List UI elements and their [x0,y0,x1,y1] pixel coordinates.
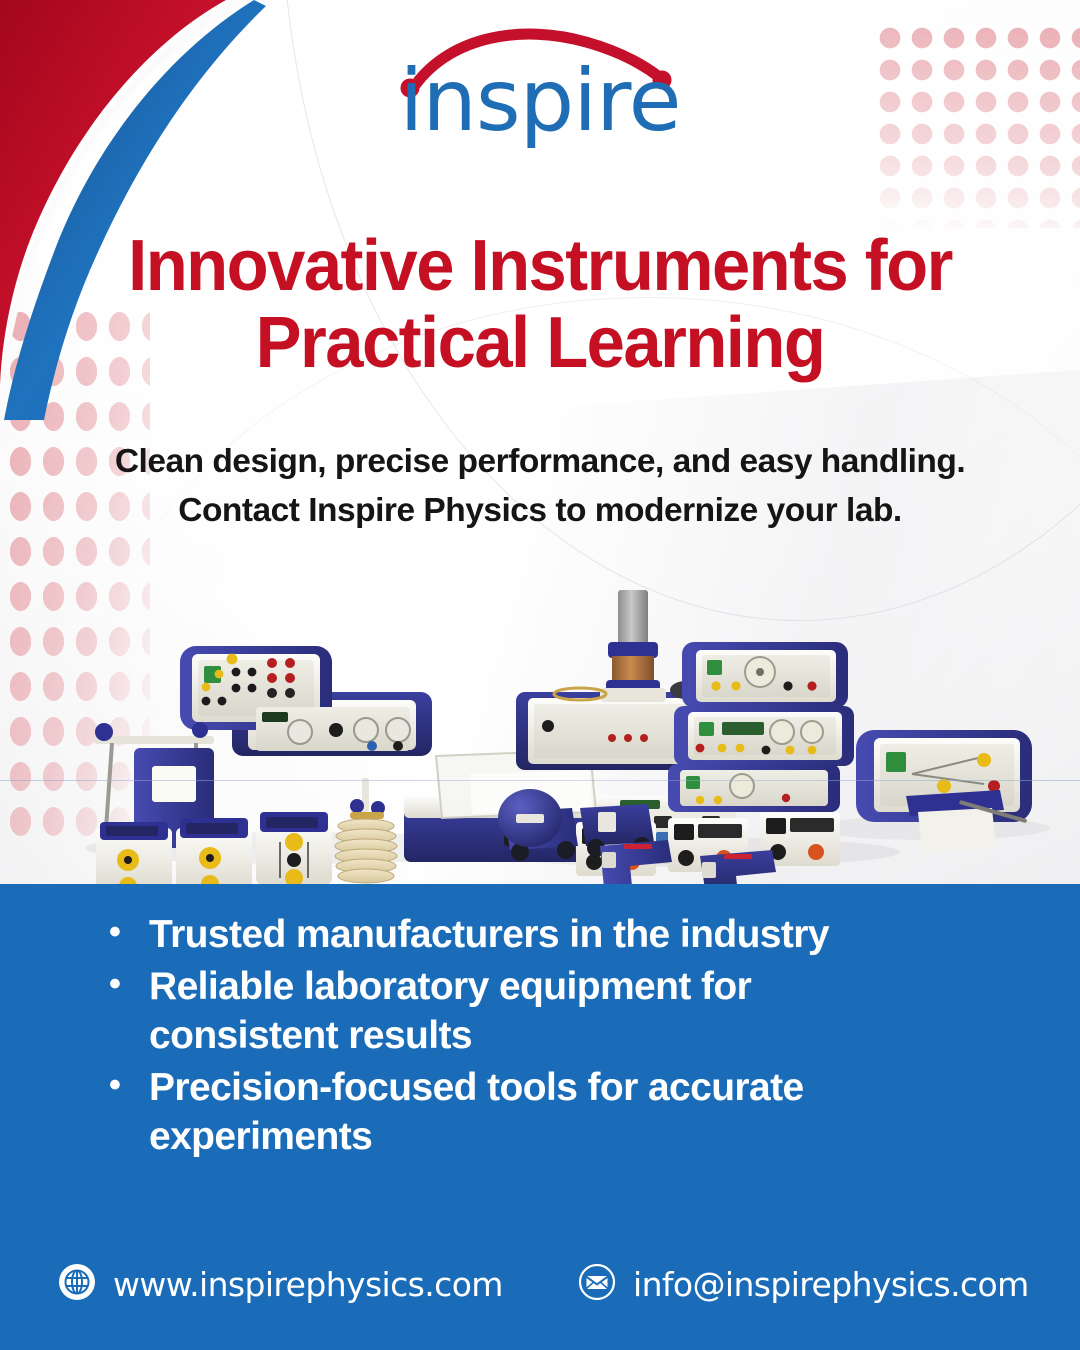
list-item: • Reliable laboratory equipment for cons… [105,962,1020,1061]
contact-website[interactable]: www.inspirephysics.com [58,1263,578,1306]
bullet-marker-icon: • [105,910,149,956]
logo-wordmark: inspire [390,58,690,144]
benefits-list: • Trusted manufacturers in the industry … [105,910,1020,1164]
surface-line [0,780,1080,781]
website-label: www.inspirephysics.com [113,1265,503,1304]
headline-line-2: Practical Learning [72,305,1008,382]
headline-line-1: Innovative Instruments for [128,226,952,306]
subtitle-line-2: Contact Inspire Physics to modernize you… [56,487,1024,536]
instrument-right-stack [668,642,854,812]
benefit-text: Precision-focused tools for accurate exp… [149,1063,949,1162]
email-label: info@inspirephysics.com [633,1265,1029,1304]
contact-email[interactable]: info@inspirephysics.com [578,1263,1029,1306]
instrument-coil [335,778,397,883]
logo-mark: inspire [390,28,690,156]
page-title: Innovative Instruments for Practical Lea… [72,228,1008,382]
bullet-marker-icon: • [105,962,149,1008]
instrument-small-boxes [96,812,332,890]
envelope-icon [578,1263,616,1306]
subtitle-line-1: Clean design, precise performance, and e… [115,443,965,480]
brand-logo: inspire [0,28,1080,156]
list-item: • Trusted manufacturers in the industry [105,910,1020,960]
benefit-text: Reliable laboratory equipment for consis… [149,962,949,1061]
product-photo [0,560,1080,890]
benefits-panel: • Trusted manufacturers in the industry … [0,884,1080,1350]
benefit-text: Trusted manufacturers in the industry [149,910,949,960]
bullet-marker-icon: • [105,1063,149,1109]
poster-canvas: inspire Innovative Instruments for Pract… [0,0,1080,1350]
contact-bar: www.inspirephysics.com info@inspirephysi… [58,1263,1040,1306]
subtitle: Clean design, precise performance, and e… [56,438,1024,536]
globe-icon [58,1263,96,1306]
list-item: • Precision-focused tools for accurate e… [105,1063,1020,1162]
instrument-back-left [180,646,432,756]
instrument-dome [498,789,562,847]
